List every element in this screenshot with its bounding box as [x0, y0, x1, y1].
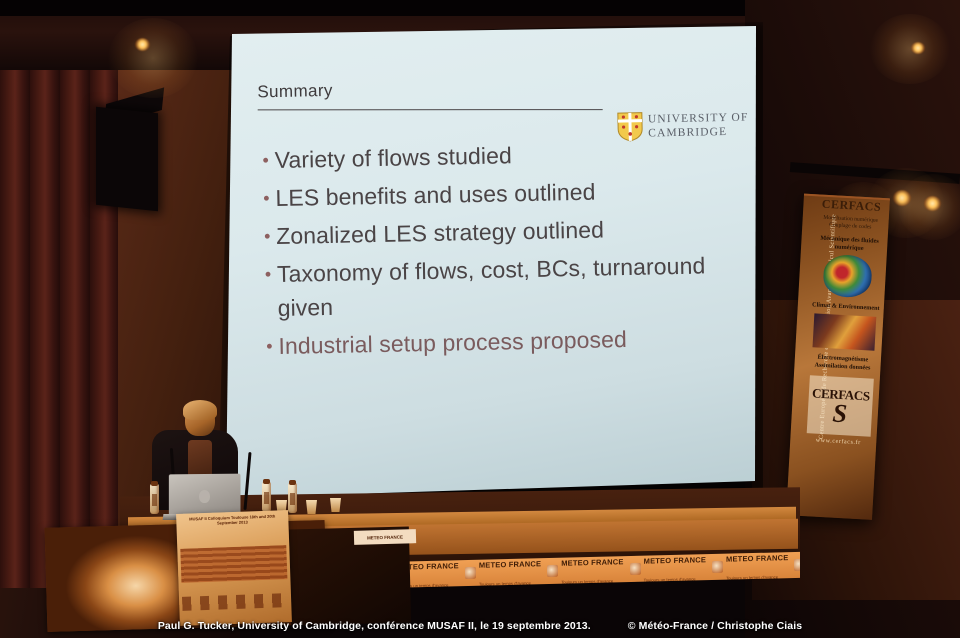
wall-loudspeaker-icon	[96, 107, 158, 212]
climate-photo-image	[812, 313, 876, 350]
sponsor-logo-item: METEO FRANCE Toujours un temps d'avance	[630, 552, 706, 587]
ceiling-spotlight-icon	[135, 38, 150, 51]
meteo-france-card: METEO FRANCE	[354, 529, 416, 545]
presenter-hair	[183, 400, 217, 420]
program-poster-sponsors	[182, 593, 288, 611]
cfd-sphere-image	[822, 254, 872, 299]
list-item: • Zonalized LES strategy outlined	[258, 210, 729, 253]
bullet-marker-icon: •	[259, 257, 278, 291]
sponsor-text: METEO FRANCE Toujours un temps d'avance	[561, 552, 623, 589]
stage-spotlight-icon	[924, 196, 941, 211]
slide-content: Summary UNIVERSITY OF CAMBRIDGE •	[226, 15, 769, 498]
list-item: • Industrial setup process proposed	[260, 320, 731, 363]
bullet-marker-icon: •	[260, 329, 279, 363]
spotlight-glow	[870, 14, 950, 84]
meteo-france-mark-icon	[465, 567, 476, 579]
bullet-text: Zonalized LES strategy outlined	[276, 212, 604, 253]
cerfacs-logo: CERFACS S	[807, 375, 874, 436]
meteo-france-mark-icon	[712, 561, 723, 573]
sponsor-name: METEO FRANCE	[644, 555, 706, 566]
list-item: • Variety of flows studied	[256, 134, 727, 177]
cerfacs-banner: Centre Européen de Recherche et de Forma…	[786, 194, 890, 520]
paper-cup	[330, 498, 341, 512]
water-bottle	[150, 484, 159, 514]
sponsor-slogan: Toujours un temps d'avance	[561, 578, 613, 584]
bullet-text: Industrial setup process proposed	[278, 322, 627, 363]
list-item: • LES benefits and uses outlined	[257, 172, 728, 215]
university-line1: UNIVERSITY OF	[648, 112, 749, 128]
list-item: • Taxonomy of flows, cost, BCs, turnarou…	[259, 248, 730, 325]
slide-title: Summary	[257, 81, 333, 103]
banner-column: CERFACS Modélisation numérique Couplage …	[804, 196, 886, 446]
paper-cup	[306, 500, 317, 514]
bottle-cap	[289, 480, 296, 485]
slide-title-rule	[258, 109, 603, 110]
caption-line: Paul G. Tucker, University of Cambridge,…	[158, 620, 591, 632]
water-bottle	[262, 482, 271, 512]
bullet-text: Taxonomy of flows, cost, BCs, turnaround…	[277, 248, 730, 325]
banner-section-title: Climat & Environnement	[812, 301, 880, 313]
meteo-card-text: METEO FRANCE	[367, 534, 403, 540]
projection-screen: Summary UNIVERSITY OF CAMBRIDGE •	[226, 26, 760, 498]
ceiling-spotlight-icon	[911, 42, 925, 54]
banner-top-word: CERFACS	[817, 196, 886, 215]
meteo-france-mark-icon	[794, 559, 800, 571]
bullet-text: Variety of flows studied	[274, 138, 512, 177]
cerfacs-url: www.cerfacs.fr	[804, 437, 872, 447]
sponsor-slogan: Toujours un temps d'avance	[644, 576, 696, 582]
sponsor-logo-item: METEO FRANCE Toujours un temps d'avance	[547, 552, 623, 589]
caption-credit: © Météo-France / Christophe Ciais	[628, 620, 802, 632]
meteo-france-mark-icon	[630, 563, 641, 575]
spotlight-glow	[108, 18, 198, 98]
banner-section-title: Mécanique des fluides numérique	[815, 234, 884, 254]
water-bottle	[288, 483, 297, 513]
conference-program-poster: MUSAF II Colloquium Toulouse 18th and 20…	[176, 510, 292, 626]
sponsor-name: METEO FRANCE	[726, 553, 788, 564]
bullet-marker-icon: •	[257, 181, 276, 215]
meteo-france-mark-icon	[547, 565, 558, 577]
program-poster-schedule	[180, 545, 287, 583]
bottle-cap	[263, 479, 270, 484]
bullet-marker-icon: •	[256, 143, 275, 177]
apple-logo-icon	[199, 490, 210, 503]
photo-canvas: Summary UNIVERSITY OF CAMBRIDGE •	[0, 0, 960, 638]
banner-top-sub: Modélisation numérique Couplage de codes	[816, 214, 885, 232]
bullet-text: LES benefits and uses outlined	[275, 175, 596, 215]
bullet-marker-icon: •	[258, 219, 277, 253]
sponsor-name: METEO FRANCE	[561, 557, 623, 568]
photo-caption: Paul G. Tucker, University of Cambridge,…	[0, 620, 960, 632]
sponsor-slogan: Toujours un temps d'avance	[479, 580, 531, 586]
program-poster-header: MUSAF II Colloquium Toulouse 18th and 20…	[179, 513, 285, 527]
banner-section-title: Électromagnétisme Assimilation données	[808, 353, 877, 373]
sponsor-text: METEO FRANCE Toujours un temps d'avance	[479, 553, 541, 590]
sponsor-text: METEO FRANCE Toujours un temps d'avance	[644, 552, 706, 587]
cerfacs-logo-mark: S	[832, 403, 848, 426]
slide-bullet-list: • Variety of flows studied • LES benefit…	[256, 134, 730, 367]
sponsor-name: METEO FRANCE	[479, 559, 541, 570]
bottle-cap	[151, 481, 158, 486]
